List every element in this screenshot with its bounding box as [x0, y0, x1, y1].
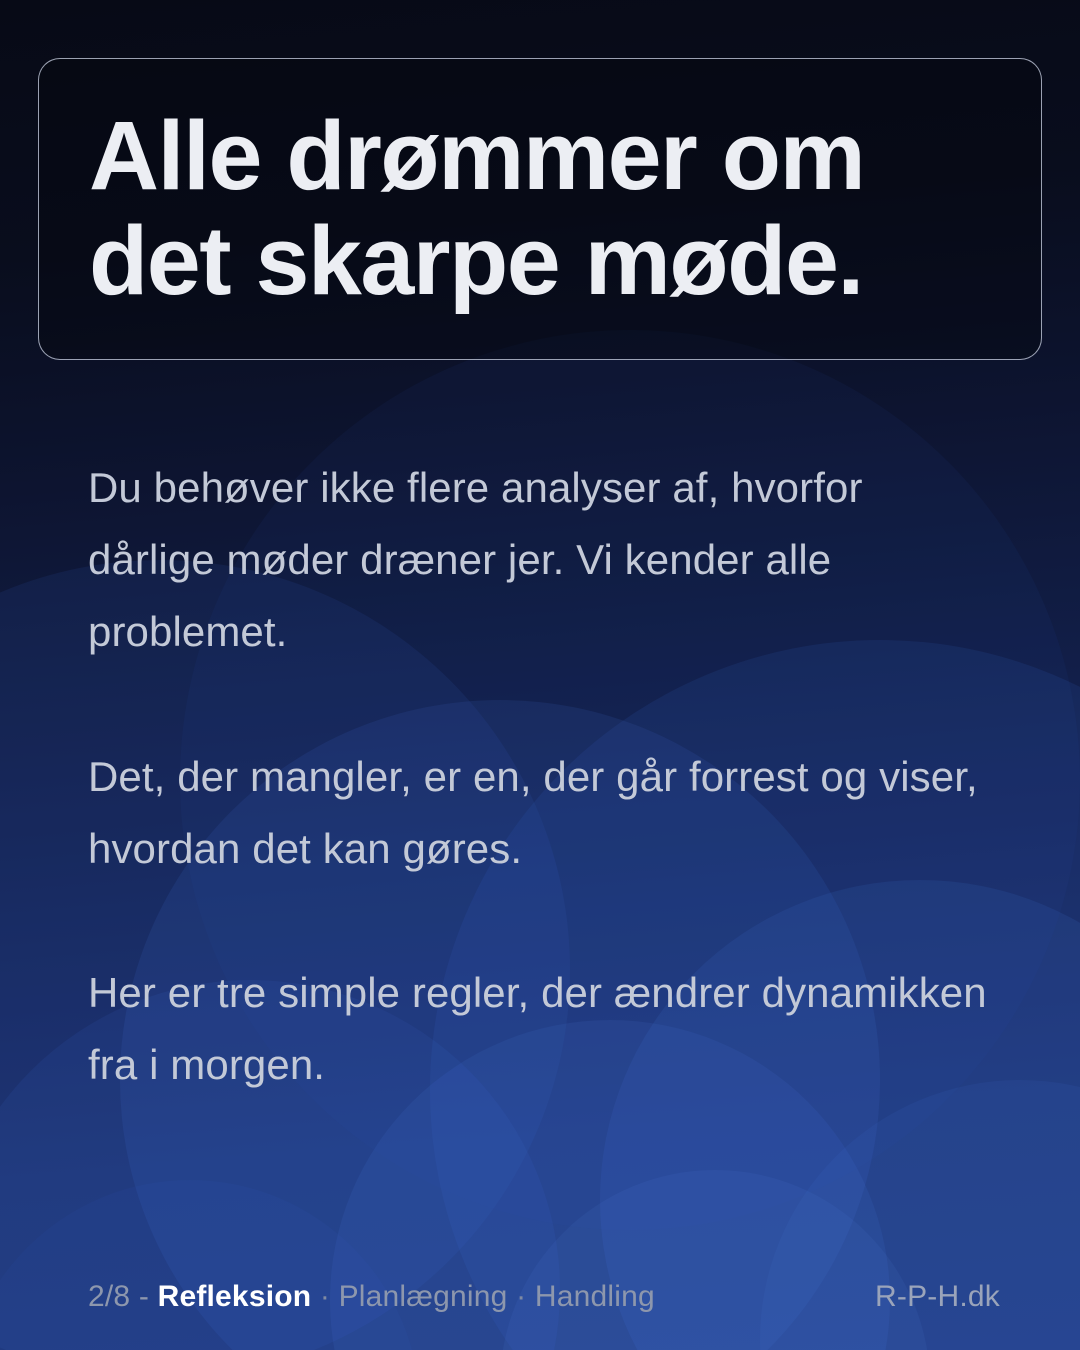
breadcrumb-separator: · [311, 1280, 338, 1314]
breadcrumb-phase-refleksion: Refleksion [158, 1280, 312, 1314]
page-title: Alle drømmer om det skarpe møde. [39, 104, 890, 314]
body-paragraph: Her er tre simple regler, der ændrer dyn… [88, 957, 1000, 1101]
slide-canvas: Alle drømmer om det skarpe møde. Du behø… [0, 0, 1080, 1350]
body-paragraph: Det, der mangler, er en, der går forrest… [88, 741, 1000, 885]
footer-breadcrumb: 2/8 - Refleksion · Planlægning · Handlin… [88, 1280, 655, 1314]
headline-card: Alle drømmer om det skarpe møde. [38, 58, 1042, 360]
bokeh-circle [500, 1170, 930, 1350]
body-paragraph: Du behøver ikke flere analyser af, hvorf… [88, 452, 1000, 669]
breadcrumb-phase-handling: Handling [535, 1280, 655, 1314]
breadcrumb-dash: - [130, 1280, 157, 1314]
page-counter: 2/8 [88, 1280, 130, 1314]
breadcrumb-separator: · [508, 1280, 535, 1314]
brand-label: R-P-H.dk [875, 1280, 1000, 1314]
body-copy: Du behøver ikke flere analyser af, hvorf… [88, 452, 1000, 1102]
breadcrumb-phase-planlaegning: Planlægning [339, 1280, 508, 1314]
bokeh-circle [0, 1180, 420, 1350]
footer: 2/8 - Refleksion · Planlægning · Handlin… [88, 1280, 1000, 1314]
